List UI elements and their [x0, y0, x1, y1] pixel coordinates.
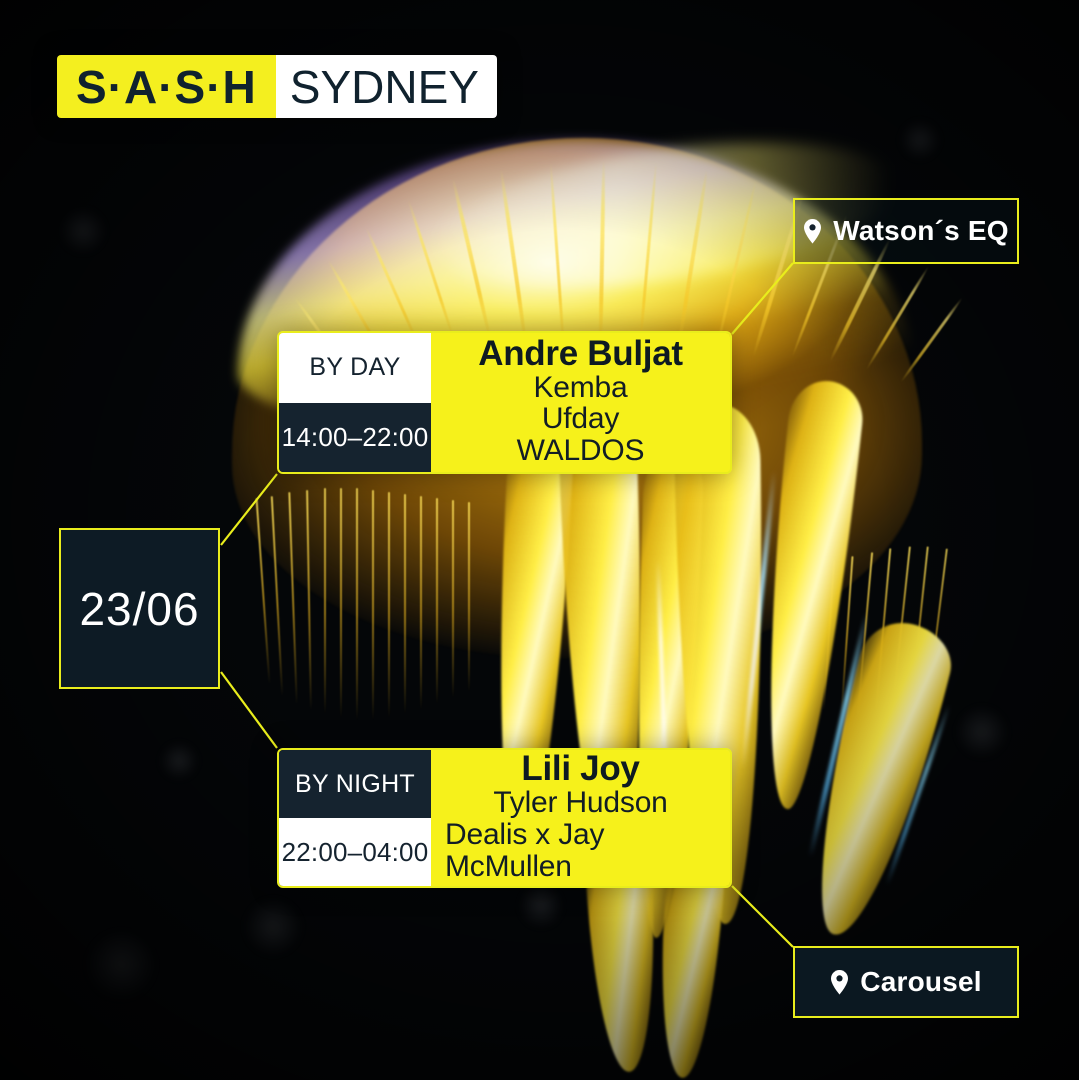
- lineup-block-night: BY NIGHT 22:00–04:00 Lili Joy Tyler Huds…: [277, 748, 732, 888]
- event-date-badge: 23/06: [59, 528, 220, 689]
- connector-date-to-night: [221, 672, 277, 748]
- night-support-2: Dealis x Jay McMullen: [445, 819, 716, 883]
- day-headliner: Andre Buljat: [478, 336, 682, 372]
- venue-bottom-name: Carousel: [860, 966, 981, 998]
- logo-city-panel: SYDNEY: [276, 55, 497, 118]
- connector-day-to-venue-top: [732, 263, 793, 334]
- connector-night-to-venue-bottom: [732, 886, 793, 947]
- lineup-block-day: BY DAY 14:00–22:00 Andre Buljat Kemba Uf…: [277, 331, 732, 474]
- venue-badge-watsons-eq[interactable]: Watson´s EQ: [793, 198, 1019, 264]
- sash-sydney-logo[interactable]: S·A·S·H SYDNEY: [57, 55, 497, 118]
- day-time-range: 14:00–22:00: [279, 403, 431, 473]
- day-support-3: WALDOS: [517, 435, 645, 467]
- location-pin-icon: [830, 970, 849, 995]
- night-artist-list: Lili Joy Tyler Hudson Dealis x Jay McMul…: [431, 750, 730, 886]
- logo-sash-panel: S·A·S·H: [57, 55, 276, 118]
- venue-badge-carousel[interactable]: Carousel: [793, 946, 1019, 1018]
- day-artist-list: Andre Buljat Kemba Ufday WALDOS: [431, 333, 730, 472]
- event-date-text: 23/06: [79, 582, 199, 636]
- logo-city-text: SYDNEY: [290, 64, 479, 110]
- location-pin-icon: [803, 219, 822, 244]
- day-period-label: BY DAY: [279, 333, 431, 403]
- night-period-label: BY NIGHT: [279, 750, 431, 818]
- day-time-column: BY DAY 14:00–22:00: [279, 333, 431, 472]
- event-poster: S·A·S·H SYDNEY 23/06 BY DAY 14:00–22:00 …: [0, 0, 1079, 1080]
- connector-date-to-day: [221, 474, 277, 545]
- night-support-1: Tyler Hudson: [493, 787, 667, 819]
- day-support-2: Ufday: [542, 403, 619, 435]
- night-time-column: BY NIGHT 22:00–04:00: [279, 750, 431, 886]
- day-support-1: Kemba: [533, 372, 627, 404]
- venue-top-name: Watson´s EQ: [833, 215, 1008, 247]
- night-headliner: Lili Joy: [521, 751, 639, 787]
- logo-sash-text: S·A·S·H: [76, 64, 257, 110]
- night-time-range: 22:00–04:00: [279, 818, 431, 886]
